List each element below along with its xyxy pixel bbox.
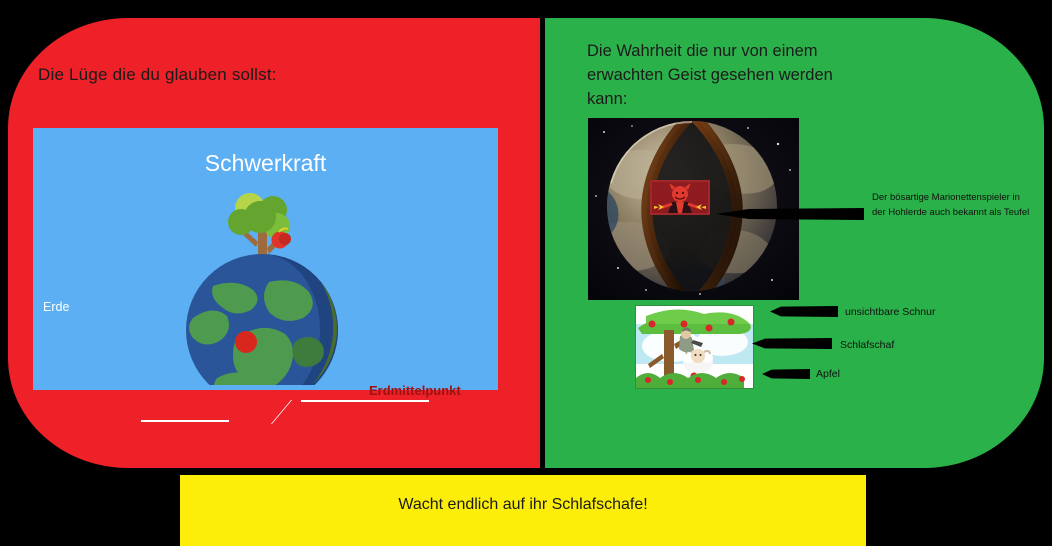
- leader-line-erde: [141, 420, 229, 422]
- earth-svg: [121, 190, 411, 385]
- leader-line-core-diagonal: [271, 400, 320, 424]
- pointer-arrow-sheep: [752, 338, 832, 349]
- leader-line-core-horizontal: [301, 400, 429, 402]
- right-green-panel: Die Wahrheit die nur von einem erwachten…: [545, 18, 1044, 468]
- annotation-sheep: Schlafschaf: [840, 339, 894, 351]
- devil-figure: [650, 180, 710, 215]
- pointer-arrow-string: [770, 306, 838, 317]
- banner-text: Wacht endlich auf ihr Schlafschafe!: [180, 496, 866, 514]
- label-erdmittelpunkt: Erdmittelpunkt: [369, 383, 461, 398]
- diagram-title: Schwerkraft: [33, 150, 498, 177]
- annotation-string: unsichtbare Schnur: [845, 306, 935, 318]
- tree-sheep-svg: [636, 306, 753, 388]
- annotation-apple: Apfel: [816, 368, 840, 380]
- slide-canvas: Die Lüge die du glauben sollst: Schwerkr…: [0, 0, 1052, 546]
- bottom-yellow-banner: Wacht endlich auf ihr Schlafschafe!: [180, 475, 866, 546]
- label-erde: Erde: [43, 300, 69, 314]
- annotation-devil: Der bösartige Marionettenspieler in der …: [872, 190, 1032, 220]
- left-red-panel: Die Lüge die du glauben sollst: Schwerkr…: [8, 18, 540, 468]
- tree-sheep-apple-image: [635, 305, 754, 389]
- earth-illustration: [121, 190, 411, 385]
- gravity-diagram-box: Schwerkraft: [33, 128, 498, 390]
- left-panel-title: Die Lüge die du glauben sollst:: [38, 65, 277, 85]
- right-panel-title: Die Wahrheit die nur von einem erwachten…: [587, 40, 847, 112]
